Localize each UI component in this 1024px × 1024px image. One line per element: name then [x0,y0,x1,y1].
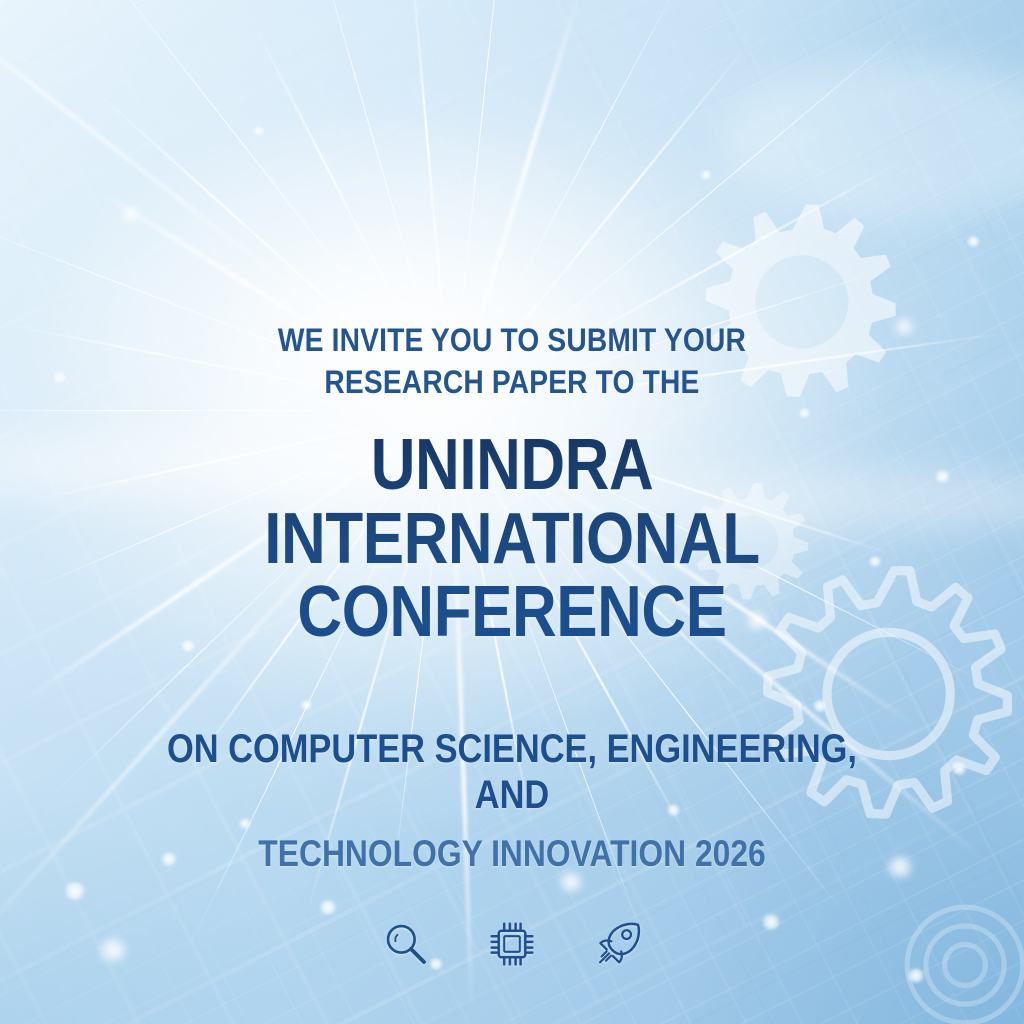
microchip-icon [487,919,537,969]
eyebrow-line-1: WE INVITE YOU TO SUBMIT YOUR [278,320,746,362]
poster-content: WE INVITE YOU TO SUBMIT YOUR RESEARCH PA… [0,0,1024,1024]
magnifier-icon [381,919,431,969]
conference-poster: WE INVITE YOU TO SUBMIT YOUR RESEARCH PA… [0,0,1024,1024]
rocket-icon [593,919,643,969]
page-title: UNINDRA INTERNATIONAL CONFERENCE [142,429,882,649]
headline-line-2: CONFERENCE [142,576,882,649]
theme-icon-row [381,919,643,969]
conference-subtitle-secondary: TECHNOLOGY INNOVATION 2026 [258,833,765,876]
eyebrow-line-2: RESEARCH PAPER TO THE [278,362,746,404]
invitation-eyebrow: WE INVITE YOU TO SUBMIT YOUR RESEARCH PA… [278,320,746,403]
conference-subtitle-primary: ON COMPUTER SCIENCE, ENGINEERING, AND [159,726,864,819]
headline-line-1: UNINDRA INTERNATIONAL [142,429,882,576]
